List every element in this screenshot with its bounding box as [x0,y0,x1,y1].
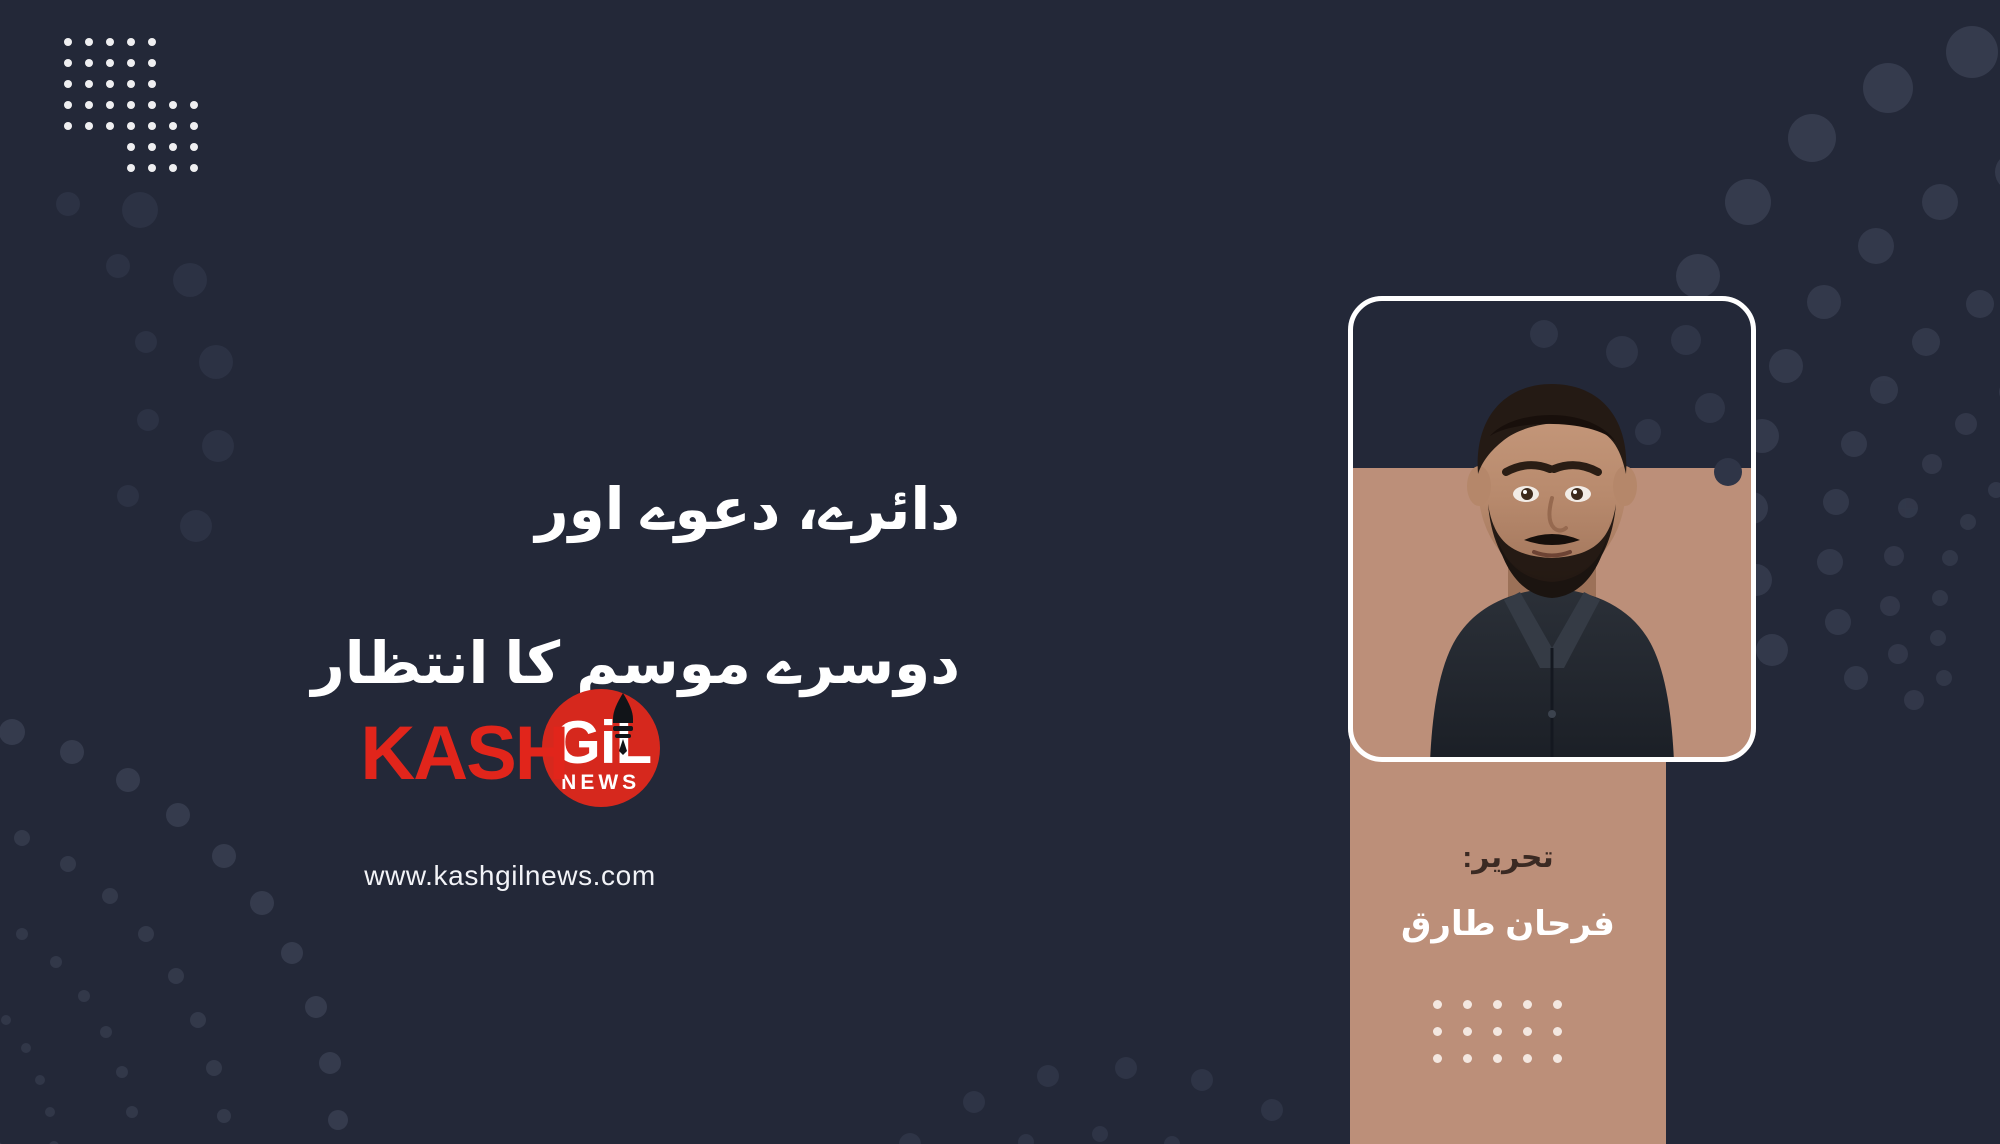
portrait-frame [1348,296,1756,762]
byline: تحریر: فرحان طارق [1350,840,1666,945]
byline-author-name: فرحان طارق [1350,904,1666,945]
staircase-dot-pattern [64,38,204,178]
headline-line-1: دائرے، دعوے اور [60,471,960,548]
arc-dots-bottom-center [850,884,1370,1144]
logo-badge-subtext: NEWS [561,772,640,793]
brand-logo[interactable]: KASH GiL NEWS [60,700,960,796]
logo-badge-text: GiL [554,715,651,770]
pen-nib-icon [610,693,636,755]
poster-canvas: دائرے، دعوے اور دوسرے موسم کا انتظار KAS… [0,0,2000,1144]
website-url[interactable]: www.kashgilnews.com [60,860,960,892]
logo-wordmark: KASH [360,716,567,792]
headline-line-2: دوسرے موسم کا انتظار [60,625,960,702]
byline-label: تحریر: [1350,840,1666,876]
author-card-dot-grid [1433,1000,1583,1070]
